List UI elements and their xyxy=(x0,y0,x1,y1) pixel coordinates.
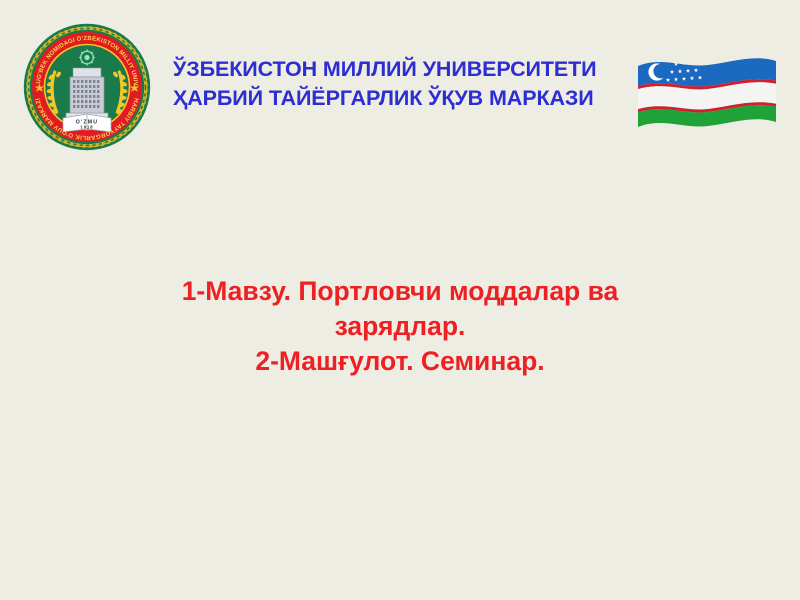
header-title: ЎЗБЕКИСТОН МИЛЛИЙ УНИВЕРСИТЕТИ ҲАРБИЙ ТА… xyxy=(173,55,623,113)
header-title-line-2: ҲАРБИЙ ТАЙЁРГАРЛИК ЎҚУВ МАРКАЗИ xyxy=(173,84,623,113)
university-emblem: MIRZO ULUG'BEK NOMIDAGI O'ZBEKISTON MILL… xyxy=(23,22,151,152)
slide-title-line-1: 1-Мавзу. Портловчи моддалар ва xyxy=(100,274,700,309)
emblem-book-year: 1918 xyxy=(81,125,94,130)
slide-main-title: 1-Мавзу. Портловчи моддалар ва зарядлар.… xyxy=(100,274,700,380)
presentation-slide: MIRZO ULUG'BEK NOMIDAGI O'ZBEKISTON MILL… xyxy=(0,0,800,600)
emblem-sun-icon xyxy=(79,50,95,66)
university-emblem-icon: MIRZO ULUG'BEK NOMIDAGI O'ZBEKISTON MILL… xyxy=(23,22,151,152)
uzbekistan-flag-icon xyxy=(632,52,782,144)
slide-header: MIRZO ULUG'BEK NOMIDAGI O'ZBEKISTON MILL… xyxy=(0,0,800,165)
emblem-book-icon: O'ZMU 1918 xyxy=(63,114,111,132)
header-title-line-1: ЎЗБЕКИСТОН МИЛЛИЙ УНИВЕРСИТЕТИ xyxy=(173,55,623,84)
slide-title-line-3: 2-Машғулот. Семинар. xyxy=(100,344,700,379)
slide-title-line-2: зарядлар. xyxy=(100,309,700,344)
uzbekistan-flag xyxy=(632,52,782,144)
